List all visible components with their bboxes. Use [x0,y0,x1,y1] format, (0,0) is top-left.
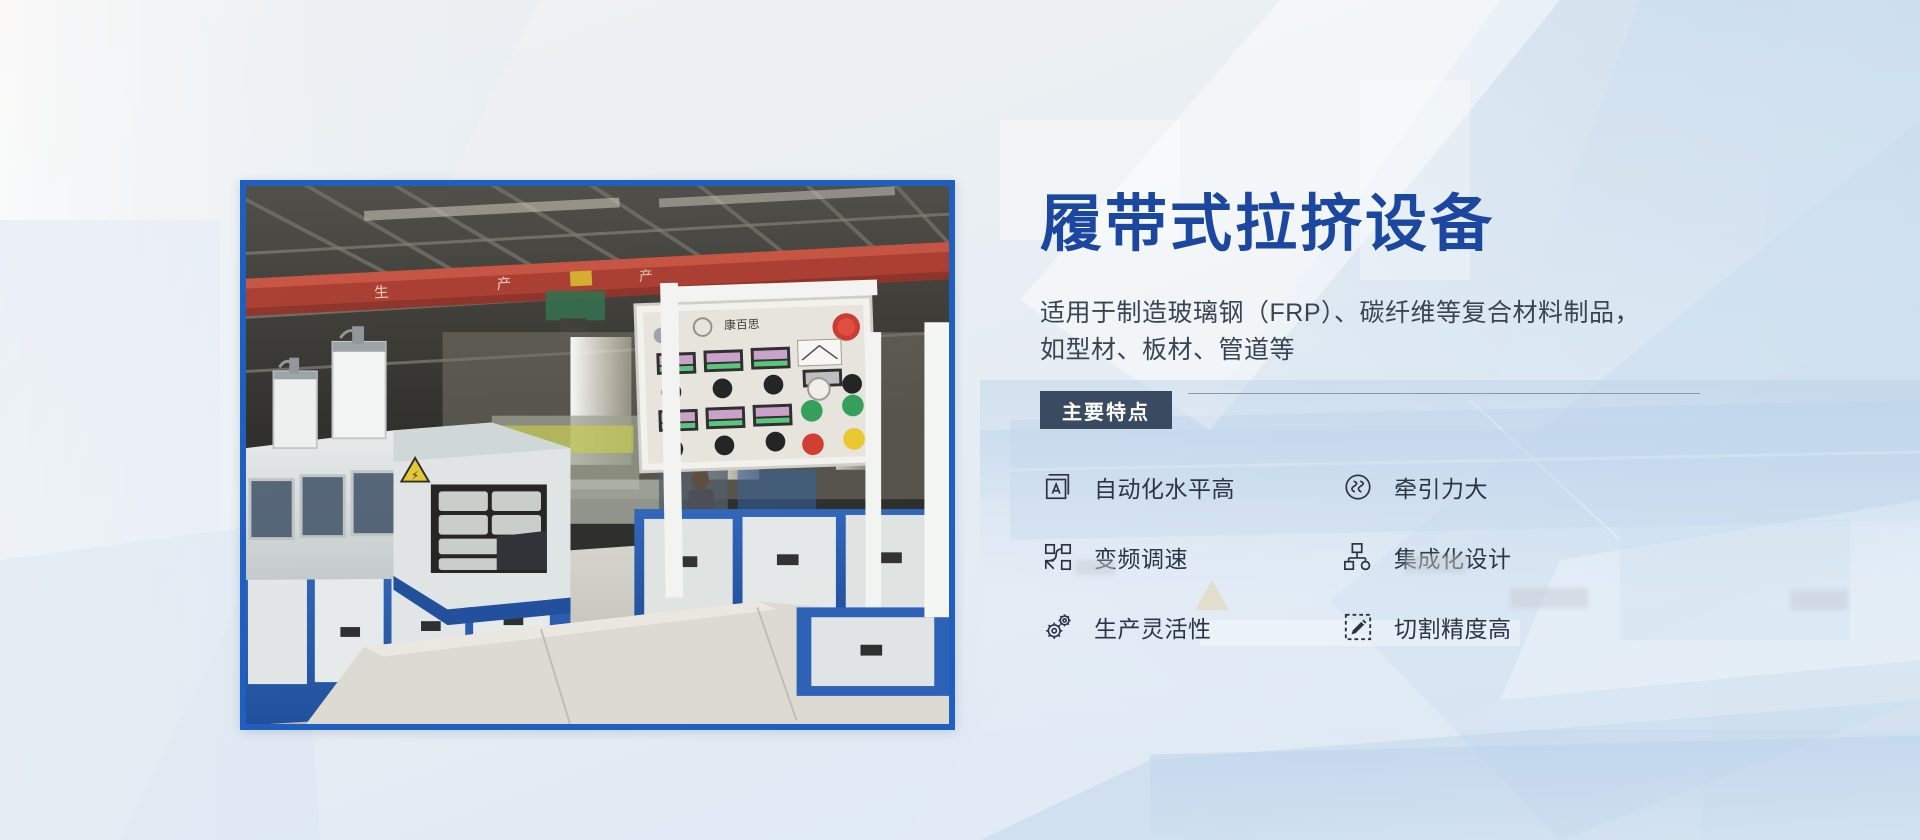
feature-item-vfd[interactable]: 变频调速 [1040,535,1320,579]
features-heading-row: 主要特点 [1040,391,1700,431]
boxed-letter-a-icon [1040,469,1076,505]
badge-divider-line [1188,393,1700,394]
page-title: 履带式拉挤设备 [1040,190,1700,259]
feature-label: 集成化设计 [1394,540,1512,574]
integration-hierarchy-icon [1340,539,1376,575]
background-ghost-left [0,220,220,840]
feature-item-integration[interactable]: 集成化设计 [1340,535,1620,579]
background-watermark-4 [1790,590,1848,610]
hero-subtitle: 适用于制造玻璃钢（FRP）、碳纤维等复合材料制品，如型材、板材、管道等 [1040,295,1650,369]
status-badge: 主要特点 [1040,391,1172,429]
feature-label: 生产灵活性 [1094,610,1212,644]
feature-label: 变频调速 [1094,540,1188,574]
background-ghost-strip [1150,736,1920,840]
feature-label: 切割精度高 [1394,610,1512,644]
product-hero-banner: 生 产 产 [0,0,1920,840]
feature-item-cutting-precision[interactable]: 切割精度高 [1340,605,1620,649]
product-photo-frame: 生 产 产 [240,180,955,730]
feature-item-automation[interactable]: 自动化水平高 [1040,465,1320,509]
feature-item-traction[interactable]: 牵引力大 [1340,465,1620,509]
feature-label: 牵引力大 [1394,470,1488,504]
product-photo: 生 产 产 [246,186,949,724]
frequency-nodes-icon [1040,539,1076,575]
feature-label: 自动化水平高 [1094,470,1235,504]
precision-pencil-dashed-icon [1340,609,1376,645]
feature-list: 自动化水平高 牵引力大 [1040,465,1700,649]
gears-icon [1040,609,1076,645]
hero-content: 履带式拉挤设备 适用于制造玻璃钢（FRP）、碳纤维等复合材料制品，如型材、板材、… [1040,190,1700,649]
feature-item-flexibility[interactable]: 生产灵活性 [1040,605,1320,649]
traction-waves-circle-icon [1340,469,1376,505]
